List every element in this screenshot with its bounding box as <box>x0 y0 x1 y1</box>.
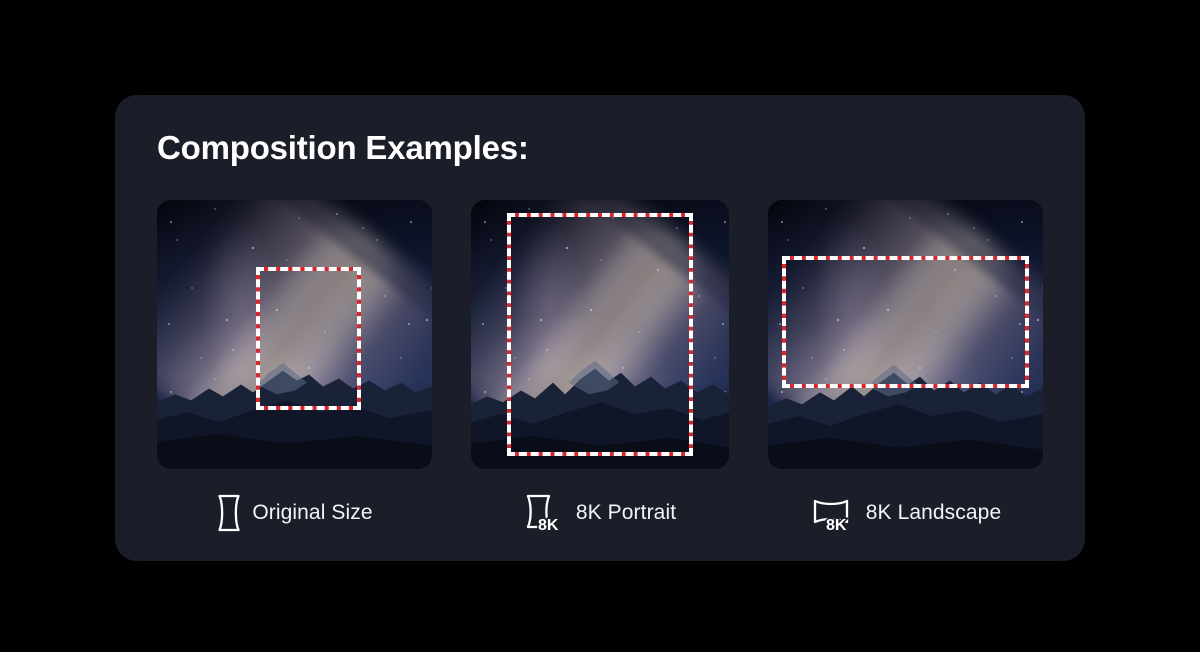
screen-root: Composition Examples: <box>0 0 1200 652</box>
crop-overlay-landscape-8k[interactable] <box>782 256 1030 388</box>
frame-landscape-icon: 8K <box>810 492 856 534</box>
crop-overlay-portrait-8k[interactable] <box>507 213 693 455</box>
caption-portrait-8k: 8K 8K Portrait <box>524 490 676 536</box>
caption-original: Original Size <box>216 490 372 536</box>
thumbnail-original[interactable] <box>157 200 432 469</box>
frame-icon-badge: 8K <box>826 517 847 534</box>
frame-portrait-icon <box>216 494 242 532</box>
thumbnail-landscape-8k[interactable] <box>768 200 1043 469</box>
example-card-landscape-8k[interactable]: 8K 8K Landscape <box>768 200 1043 536</box>
thumbnail-portrait-8k[interactable] <box>471 200 729 469</box>
composition-examples-panel: Composition Examples: <box>115 95 1085 561</box>
page-title: Composition Examples: <box>157 129 529 167</box>
frame-icon-badge: 8K <box>538 517 559 534</box>
caption-label-portrait-8k: 8K Portrait <box>576 501 676 525</box>
caption-label-original: Original Size <box>252 501 372 525</box>
caption-landscape-8k: 8K 8K Landscape <box>810 490 1001 536</box>
caption-label-landscape-8k: 8K Landscape <box>866 501 1001 525</box>
frame-portrait-icon: 8K <box>524 492 566 534</box>
example-card-portrait-8k[interactable]: 8K 8K Portrait <box>471 200 729 536</box>
crop-overlay-original[interactable] <box>256 267 361 410</box>
examples-row: Original Size <box>157 200 1043 536</box>
example-card-original[interactable]: Original Size <box>157 200 432 536</box>
